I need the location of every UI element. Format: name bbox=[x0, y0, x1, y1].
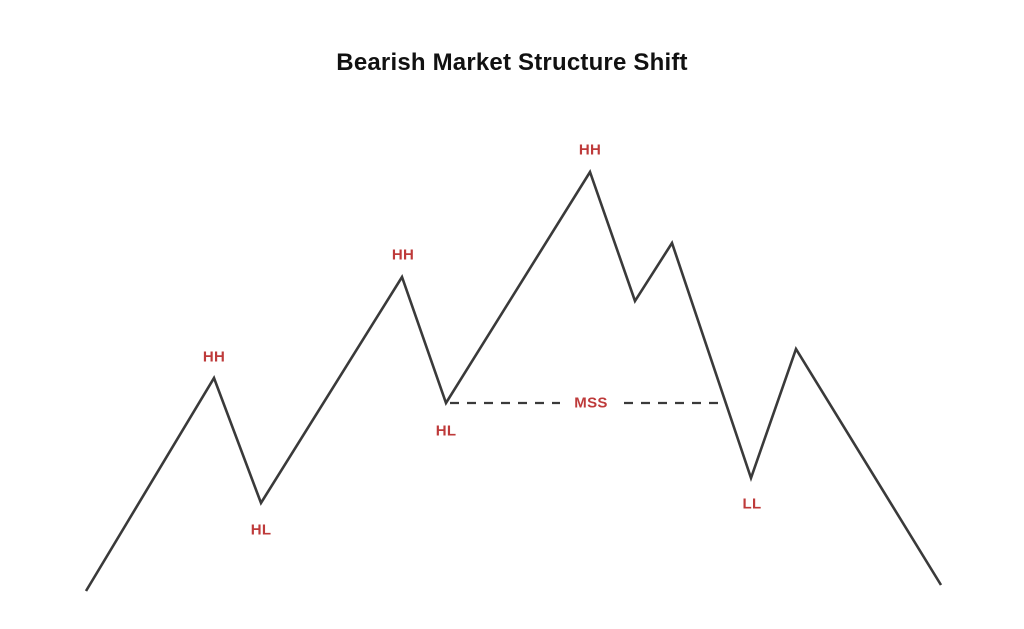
price-line bbox=[86, 172, 941, 591]
label-higher-high-2: HH bbox=[392, 247, 414, 264]
label-lower-low: LL bbox=[743, 496, 762, 513]
label-higher-low-2: HL bbox=[436, 423, 457, 440]
bearish-mss-chart: Bearish Market Structure Shift HH HL HH … bbox=[0, 0, 1024, 629]
label-higher-high-3: HH bbox=[579, 142, 601, 159]
price-line-svg bbox=[0, 0, 1024, 629]
label-mss: MSS bbox=[568, 395, 613, 412]
label-higher-high-1: HH bbox=[203, 349, 225, 366]
label-higher-low-1: HL bbox=[251, 522, 272, 539]
